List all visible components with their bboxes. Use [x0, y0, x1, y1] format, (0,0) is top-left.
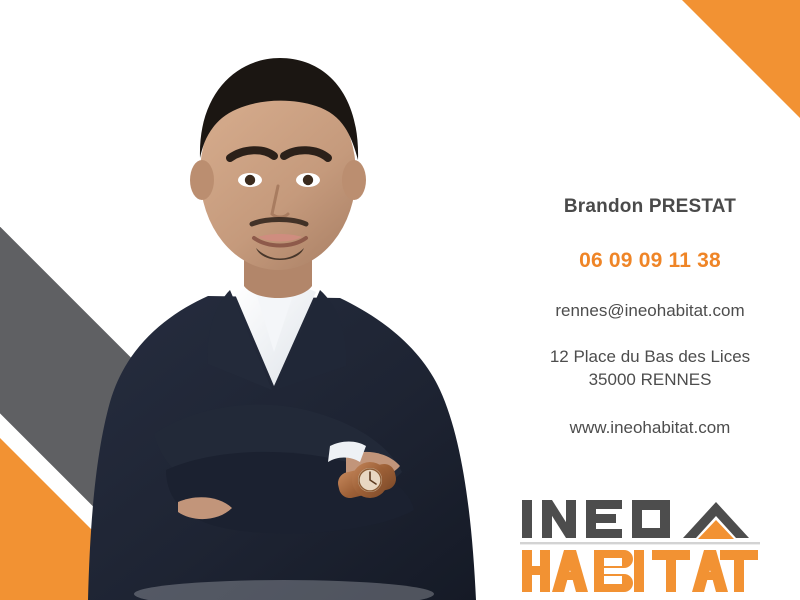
business-card: Brandon PRESTAT 06 09 09 11 38 rennes@in…: [0, 0, 800, 600]
ineo-habitat-logo[interactable]: [520, 492, 760, 594]
roof-chevron-icon: [683, 502, 749, 539]
logo-divider-line: [520, 542, 760, 544]
address-line-2: 35000 RENNES: [500, 369, 800, 392]
contact-block: Brandon PRESTAT 06 09 09 11 38 rennes@in…: [500, 196, 800, 438]
person-name: Brandon PRESTAT: [500, 196, 800, 219]
portrait-photo: [58, 34, 510, 600]
website-url[interactable]: www.ineohabitat.com: [500, 418, 800, 438]
phone-number[interactable]: 06 09 09 11 38: [500, 249, 800, 273]
logo-ineo-wordmark: [522, 500, 670, 538]
email-address[interactable]: rennes@ineohabitat.com: [500, 301, 800, 321]
postal-address: 12 Place du Bas des Lices 35000 RENNES: [500, 346, 800, 392]
orange-corner-wedge-top-right: [682, 0, 800, 118]
logo-habitat-wordmark: [522, 550, 758, 592]
address-line-1: 12 Place du Bas des Lices: [500, 346, 800, 369]
